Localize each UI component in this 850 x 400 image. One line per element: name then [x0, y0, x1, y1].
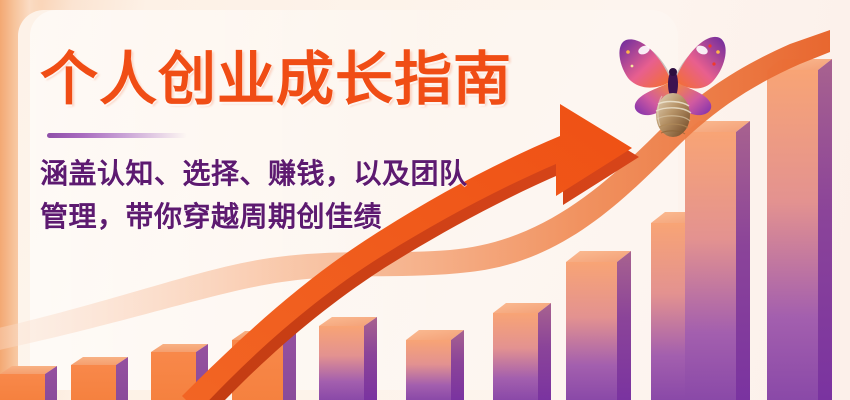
- butterfly-icon: [614, 22, 730, 140]
- page-title: 个人创业成长指南: [40, 48, 512, 112]
- subtitle-line-1: 涵盖认知、选择、赚钱，以及团队: [40, 152, 580, 195]
- page-subtitle: 涵盖认知、选择、赚钱，以及团队 管理，带你穿越周期创佳绩: [40, 152, 580, 238]
- subtitle-line-2: 管理，带你穿越周期创佳绩: [40, 195, 580, 238]
- title-divider: [47, 133, 187, 138]
- banner-root: 个人创业成长指南 涵盖认知、选择、赚钱，以及团队 管理，带你穿越周期创佳绩: [0, 0, 850, 400]
